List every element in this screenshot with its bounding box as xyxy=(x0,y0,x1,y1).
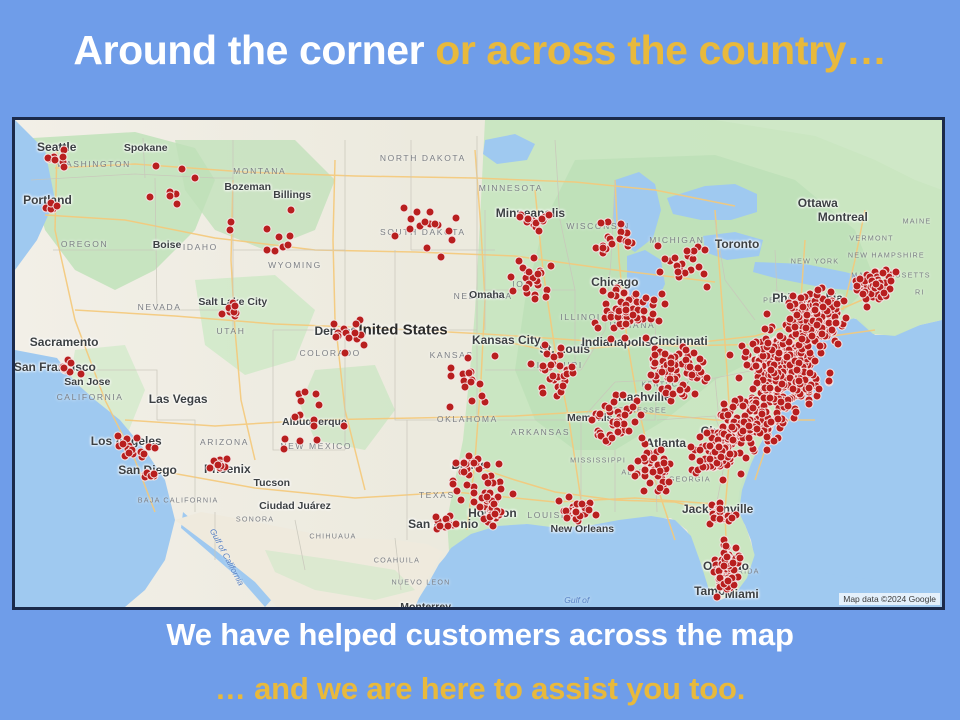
map-canvas[interactable]: Gulf of California Gulf of WASHINGTON OR… xyxy=(15,120,942,607)
customer-marker[interactable] xyxy=(855,274,864,283)
customer-marker[interactable] xyxy=(643,382,652,391)
customer-marker[interactable] xyxy=(563,513,572,522)
customer-marker[interactable] xyxy=(732,543,741,552)
customer-marker[interactable] xyxy=(497,484,506,493)
customer-marker[interactable] xyxy=(263,224,272,233)
customer-marker[interactable] xyxy=(443,521,452,530)
customer-marker[interactable] xyxy=(777,380,786,389)
customer-marker[interactable] xyxy=(805,399,814,408)
customer-marker[interactable] xyxy=(699,270,708,279)
customer-marker[interactable] xyxy=(281,434,290,443)
customer-marker[interactable] xyxy=(489,522,498,531)
customer-marker[interactable] xyxy=(872,280,881,289)
customer-marker[interactable] xyxy=(469,488,478,497)
customer-marker[interactable] xyxy=(152,161,161,170)
customer-marker[interactable] xyxy=(744,434,753,443)
customer-marker[interactable] xyxy=(695,456,704,465)
customer-marker[interactable] xyxy=(718,476,727,485)
customer-marker[interactable] xyxy=(735,374,744,383)
customer-marker[interactable] xyxy=(463,353,472,362)
customer-marker[interactable] xyxy=(527,360,536,369)
customer-marker[interactable] xyxy=(776,397,785,406)
customer-marker[interactable] xyxy=(541,293,550,302)
customer-marker[interactable] xyxy=(813,286,822,295)
customer-marker[interactable] xyxy=(796,294,805,303)
customer-marker[interactable] xyxy=(825,377,834,386)
customer-marker[interactable] xyxy=(878,268,887,277)
customer-marker[interactable] xyxy=(702,283,711,292)
customer-marker[interactable] xyxy=(736,470,745,479)
customer-marker[interactable] xyxy=(886,276,895,285)
customer-marker[interactable] xyxy=(484,479,493,488)
customer-marker[interactable] xyxy=(119,440,128,449)
customer-marker[interactable] xyxy=(447,371,456,380)
customer-marker[interactable] xyxy=(544,211,553,220)
customer-marker[interactable] xyxy=(132,433,141,442)
customer-marker[interactable] xyxy=(818,303,827,312)
customer-marker[interactable] xyxy=(214,460,223,469)
customer-marker[interactable] xyxy=(146,192,155,201)
customer-marker[interactable] xyxy=(612,420,621,429)
customer-marker[interactable] xyxy=(555,497,564,506)
customer-marker[interactable] xyxy=(791,408,800,417)
customer-marker[interactable] xyxy=(391,231,400,240)
customer-marker[interactable] xyxy=(445,402,454,411)
customer-marker[interactable] xyxy=(799,303,808,312)
customer-marker[interactable] xyxy=(125,449,134,458)
customer-marker[interactable] xyxy=(650,351,659,360)
customer-marker[interactable] xyxy=(719,561,728,570)
customer-marker[interactable] xyxy=(810,305,819,314)
customer-marker[interactable] xyxy=(681,346,690,355)
customer-marker[interactable] xyxy=(444,226,453,235)
customer-marker[interactable] xyxy=(506,273,515,282)
customer-marker[interactable] xyxy=(660,255,669,264)
customer-marker[interactable] xyxy=(290,412,299,421)
customer-marker[interactable] xyxy=(310,421,319,430)
customer-marker[interactable] xyxy=(594,323,603,332)
customer-marker[interactable] xyxy=(622,320,631,329)
customer-marker[interactable] xyxy=(313,436,322,445)
customer-marker[interactable] xyxy=(863,302,872,311)
customer-marker[interactable] xyxy=(469,498,478,507)
customer-marker[interactable] xyxy=(279,444,288,453)
map-attribution: Map data ©2024 Google xyxy=(839,593,940,605)
customer-marker[interactable] xyxy=(728,436,737,445)
customer-marker[interactable] xyxy=(191,174,200,183)
customer-marker[interactable] xyxy=(648,309,657,318)
customer-marker[interactable] xyxy=(58,152,67,161)
customer-marker[interactable] xyxy=(763,309,772,318)
customer-marker[interactable] xyxy=(776,332,785,341)
customer-marker[interactable] xyxy=(686,443,695,452)
customer-marker[interactable] xyxy=(301,388,310,397)
customer-marker[interactable] xyxy=(891,268,900,277)
customer-marker[interactable] xyxy=(683,247,692,256)
customer-marker[interactable] xyxy=(407,214,416,223)
customer-marker[interactable] xyxy=(114,432,123,441)
customer-marker[interactable] xyxy=(742,360,751,369)
customer-marker[interactable] xyxy=(406,224,415,233)
customer-marker[interactable] xyxy=(752,424,761,433)
customer-marker[interactable] xyxy=(783,353,792,362)
customer-marker[interactable] xyxy=(640,487,649,496)
customer-marker[interactable] xyxy=(572,508,581,517)
customer-marker[interactable] xyxy=(657,367,666,376)
customer-marker[interactable] xyxy=(880,288,889,297)
customer-marker[interactable] xyxy=(508,286,517,295)
customer-marker[interactable] xyxy=(451,520,460,529)
footer-line-2: … and we are here to assist you too. xyxy=(0,666,960,712)
customer-marker[interactable] xyxy=(742,453,751,462)
customer-marker[interactable] xyxy=(752,362,761,371)
customer-marker[interactable] xyxy=(657,445,666,454)
customer-marker[interactable] xyxy=(690,349,699,358)
customer-marker[interactable] xyxy=(727,423,736,432)
footer-line-1: We have helped customers across the map xyxy=(0,612,960,658)
customer-marker[interactable] xyxy=(521,284,530,293)
customer-marker[interactable] xyxy=(475,380,484,389)
customer-marker[interactable] xyxy=(655,267,664,276)
customer-marker[interactable] xyxy=(742,347,751,356)
customer-marker[interactable] xyxy=(529,253,538,262)
customer-marker[interactable] xyxy=(794,376,803,385)
customer-marker[interactable] xyxy=(451,213,460,222)
customer-marker[interactable] xyxy=(623,238,632,247)
customer-marker[interactable] xyxy=(508,489,517,498)
customer-marker[interactable] xyxy=(331,333,340,342)
customer-marker[interactable] xyxy=(495,459,504,468)
customer-marker[interactable] xyxy=(815,341,824,350)
customer-marker[interactable] xyxy=(597,218,606,227)
customer-marker[interactable] xyxy=(649,295,658,304)
customer-marker[interactable] xyxy=(715,505,724,514)
customer-marker[interactable] xyxy=(619,390,628,399)
customer-marker[interactable] xyxy=(578,499,587,508)
headline-part-gold: or across the country… xyxy=(435,27,886,73)
customer-marker[interactable] xyxy=(460,459,469,468)
customer-marker[interactable] xyxy=(483,460,492,469)
customer-marker[interactable] xyxy=(621,334,630,343)
customer-marker[interactable] xyxy=(757,410,766,419)
customer-marker[interactable] xyxy=(617,220,626,229)
customer-marker[interactable] xyxy=(426,207,435,216)
slide-footer: We have helped customers across the map … xyxy=(0,612,960,712)
customer-marker[interactable] xyxy=(659,458,668,467)
customer-marker[interactable] xyxy=(764,339,773,348)
customer-marker[interactable] xyxy=(430,219,439,228)
customer-marker[interactable] xyxy=(548,371,557,380)
customer-marker[interactable] xyxy=(828,325,837,334)
customer-marker[interactable] xyxy=(722,552,731,561)
customer-marker[interactable] xyxy=(449,480,458,489)
customer-marker[interactable] xyxy=(59,162,68,171)
customer-marker[interactable] xyxy=(490,351,499,360)
customer-marker[interactable] xyxy=(588,416,597,425)
customer-marker[interactable] xyxy=(656,466,665,475)
customer-marker[interactable] xyxy=(826,288,835,297)
customer-marker[interactable] xyxy=(675,386,684,395)
customer-marker[interactable] xyxy=(275,232,284,241)
customer-marker[interactable] xyxy=(637,411,646,420)
customer-marker[interactable] xyxy=(596,409,605,418)
customer-marker[interactable] xyxy=(674,268,683,277)
customer-marker[interactable] xyxy=(726,350,735,359)
customer-marker[interactable] xyxy=(271,246,280,255)
customer-marker[interactable] xyxy=(460,467,469,476)
customer-marker[interactable] xyxy=(149,469,158,478)
customer-marker[interactable] xyxy=(53,202,62,211)
customer-marker[interactable] xyxy=(666,359,675,368)
customer-marker[interactable] xyxy=(842,313,851,322)
customer-marker[interactable] xyxy=(859,289,868,298)
customer-marker[interactable] xyxy=(296,437,305,446)
customer-marker[interactable] xyxy=(609,398,618,407)
customer-marker[interactable] xyxy=(314,401,323,410)
customer-marker[interactable] xyxy=(139,449,148,458)
customer-marker[interactable] xyxy=(340,349,349,358)
customer-marker[interactable] xyxy=(691,390,700,399)
customer-marker[interactable] xyxy=(515,213,524,222)
customer-marker[interactable] xyxy=(67,358,76,367)
customer-marker[interactable] xyxy=(585,505,594,514)
customer-marker[interactable] xyxy=(728,514,737,523)
customer-marker[interactable] xyxy=(468,396,477,405)
customer-marker[interactable] xyxy=(598,244,607,253)
customer-marker[interactable] xyxy=(606,334,615,343)
customer-marker[interactable] xyxy=(700,246,709,255)
map-container[interactable]: Gulf of California Gulf of WASHINGTON OR… xyxy=(12,117,945,610)
customer-marker[interactable] xyxy=(834,340,843,349)
customer-marker[interactable] xyxy=(399,204,408,213)
customer-marker[interactable] xyxy=(478,391,487,400)
customer-marker[interactable] xyxy=(807,332,816,341)
customer-marker[interactable] xyxy=(340,421,349,430)
customer-marker[interactable] xyxy=(762,445,771,454)
customer-marker[interactable] xyxy=(814,384,823,393)
customer-marker[interactable] xyxy=(629,310,638,319)
customer-marker[interactable] xyxy=(761,325,770,334)
customer-marker[interactable] xyxy=(798,334,807,343)
customer-marker[interactable] xyxy=(76,370,85,379)
customer-marker[interactable] xyxy=(739,401,748,410)
customer-marker[interactable] xyxy=(813,321,822,330)
customer-marker[interactable] xyxy=(547,261,556,270)
customer-marker[interactable] xyxy=(656,484,665,493)
customer-marker[interactable] xyxy=(150,443,159,452)
customer-marker[interactable] xyxy=(330,320,339,329)
customer-marker[interactable] xyxy=(463,480,472,489)
customer-marker[interactable] xyxy=(785,302,794,311)
customer-marker[interactable] xyxy=(723,577,732,586)
customer-marker[interactable] xyxy=(661,299,670,308)
customer-marker[interactable] xyxy=(465,368,474,377)
customer-marker[interactable] xyxy=(694,262,703,271)
customer-marker[interactable] xyxy=(792,366,801,375)
customer-marker[interactable] xyxy=(654,242,663,251)
customer-marker[interactable] xyxy=(287,206,296,215)
customer-marker[interactable] xyxy=(491,509,500,518)
customer-marker[interactable] xyxy=(642,333,651,342)
customer-marker[interactable] xyxy=(766,394,775,403)
customer-marker[interactable] xyxy=(345,334,354,343)
customer-marker[interactable] xyxy=(648,468,657,477)
customer-marker[interactable] xyxy=(230,301,239,310)
customer-marker[interactable] xyxy=(766,366,775,375)
customer-marker[interactable] xyxy=(351,320,360,329)
slide-headline: Around the corner or across the country… xyxy=(0,24,960,76)
customer-marker[interactable] xyxy=(283,241,292,250)
customer-marker[interactable] xyxy=(547,360,556,369)
customer-marker[interactable] xyxy=(629,403,638,412)
customer-marker[interactable] xyxy=(666,375,675,384)
customer-marker[interactable] xyxy=(696,445,705,454)
customer-marker[interactable] xyxy=(725,449,734,458)
customer-marker[interactable] xyxy=(630,472,639,481)
customer-marker[interactable] xyxy=(564,492,573,501)
customer-marker[interactable] xyxy=(448,236,457,245)
customer-marker[interactable] xyxy=(297,397,306,406)
customer-marker[interactable] xyxy=(647,371,656,380)
customer-marker[interactable] xyxy=(173,199,182,208)
customer-marker[interactable] xyxy=(621,411,630,420)
customer-marker[interactable] xyxy=(469,459,478,468)
customer-marker[interactable] xyxy=(810,356,819,365)
customer-marker[interactable] xyxy=(658,290,667,299)
customer-marker[interactable] xyxy=(225,225,234,234)
customer-marker[interactable] xyxy=(812,392,821,401)
customer-marker[interactable] xyxy=(693,363,702,372)
customer-marker[interactable] xyxy=(538,361,547,370)
customer-marker[interactable] xyxy=(721,542,730,551)
customer-marker[interactable] xyxy=(715,442,724,451)
customer-marker[interactable] xyxy=(525,268,534,277)
customer-marker[interactable] xyxy=(539,388,548,397)
customer-marker[interactable] xyxy=(535,227,544,236)
customer-marker[interactable] xyxy=(437,252,446,261)
customer-marker[interactable] xyxy=(664,477,673,486)
customer-marker[interactable] xyxy=(790,322,799,331)
customer-marker[interactable] xyxy=(660,350,669,359)
customer-marker[interactable] xyxy=(534,269,543,278)
customer-marker[interactable] xyxy=(655,317,664,326)
customer-marker[interactable] xyxy=(685,363,694,372)
customer-marker[interactable] xyxy=(724,411,733,420)
customer-marker[interactable] xyxy=(832,300,841,309)
customer-marker[interactable] xyxy=(447,363,456,372)
customer-marker[interactable] xyxy=(435,521,444,530)
customer-marker[interactable] xyxy=(703,374,712,383)
customer-marker[interactable] xyxy=(607,433,616,442)
customer-marker[interactable] xyxy=(423,243,432,252)
customer-marker[interactable] xyxy=(457,496,466,505)
customer-marker[interactable] xyxy=(745,421,754,430)
customer-marker[interactable] xyxy=(421,218,430,227)
customer-marker[interactable] xyxy=(531,294,540,303)
customer-marker[interactable] xyxy=(765,383,774,392)
customer-marker[interactable] xyxy=(461,382,470,391)
customer-marker[interactable] xyxy=(567,362,576,371)
customer-marker[interactable] xyxy=(634,456,643,465)
customer-marker[interactable] xyxy=(312,389,321,398)
customer-marker[interactable] xyxy=(559,382,568,391)
customer-marker[interactable] xyxy=(753,345,762,354)
headline-part-white: Around the corner xyxy=(73,27,424,73)
customer-marker[interactable] xyxy=(705,454,714,463)
customer-marker[interactable] xyxy=(550,352,559,361)
customer-marker[interactable] xyxy=(748,384,757,393)
customer-marker[interactable] xyxy=(712,592,721,601)
customer-marker[interactable] xyxy=(637,433,646,442)
customer-marker[interactable] xyxy=(767,418,776,427)
customer-marker[interactable] xyxy=(736,554,745,563)
customer-marker[interactable] xyxy=(557,343,566,352)
customer-marker[interactable] xyxy=(598,286,607,295)
customer-marker[interactable] xyxy=(178,164,187,173)
customer-marker[interactable] xyxy=(817,330,826,339)
customer-marker[interactable] xyxy=(50,155,59,164)
customer-marker[interactable] xyxy=(606,291,615,300)
customer-marker[interactable] xyxy=(702,428,711,437)
customer-marker[interactable] xyxy=(286,231,295,240)
